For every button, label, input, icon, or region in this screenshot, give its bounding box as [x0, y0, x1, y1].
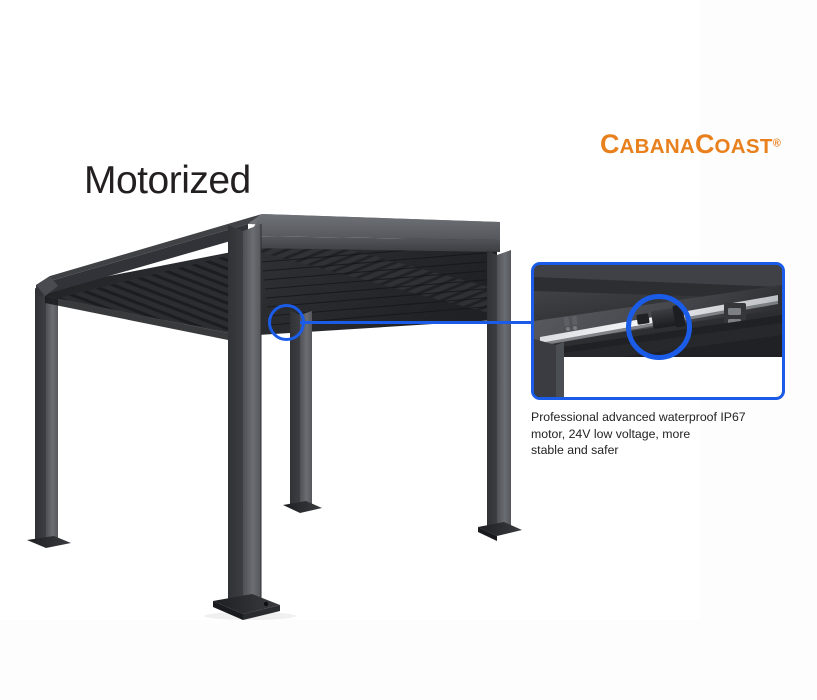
motor-detail-inset	[531, 262, 785, 400]
page-canvas: Motorized CABANACOAST®	[0, 0, 817, 700]
page-title: Motorized	[84, 159, 251, 203]
caption-line-2: motor, 24V low voltage, more	[531, 426, 783, 443]
brand-cap-2: C	[695, 129, 715, 159]
registered-trademark-icon: ®	[773, 138, 781, 150]
callout-connector-line	[300, 321, 534, 324]
motor-caption: Professional advanced waterproof IP67 mo…	[531, 409, 783, 459]
caption-line-1: Professional advanced waterproof IP67	[531, 409, 783, 426]
brand-rest-1: ABANA	[620, 135, 696, 158]
motor-zoom-highlight-circle	[626, 294, 692, 360]
brand-rest-2: OAST	[715, 135, 773, 158]
brand-cap-1: C	[600, 129, 620, 159]
caption-line-3: stable and safer	[531, 442, 783, 459]
brand-logo: CABANACOAST®	[600, 131, 781, 158]
